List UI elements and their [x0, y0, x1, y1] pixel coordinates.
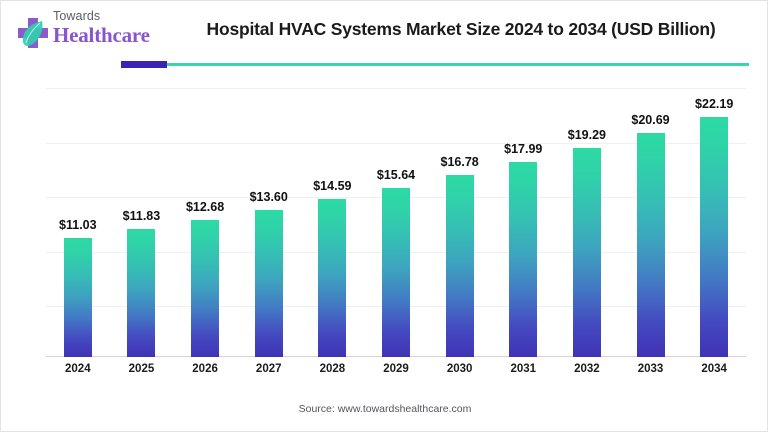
source-caption: Source: www.towardshealthcare.com	[1, 403, 768, 415]
x-axis-tick-label: 2026	[175, 363, 235, 375]
x-axis-tick-label: 2027	[239, 363, 299, 375]
x-axis-tick-label: 2032	[557, 363, 617, 375]
x-axis-tick-label: 2033	[621, 363, 681, 375]
x-axis-tick-label: 2028	[302, 363, 362, 375]
chart-page: Towards Healthcare Hospital HVAC Systems…	[0, 0, 768, 432]
x-axis-tick-label: 2029	[366, 363, 426, 375]
x-axis-labels: 2024202520262027202820292030203120322033…	[46, 1, 746, 432]
x-axis-tick-label: 2024	[48, 363, 108, 375]
x-axis-tick-label: 2034	[684, 363, 744, 375]
x-axis-tick-label: 2030	[430, 363, 490, 375]
x-axis-tick-label: 2031	[493, 363, 553, 375]
x-axis-tick-label: 2025	[111, 363, 171, 375]
